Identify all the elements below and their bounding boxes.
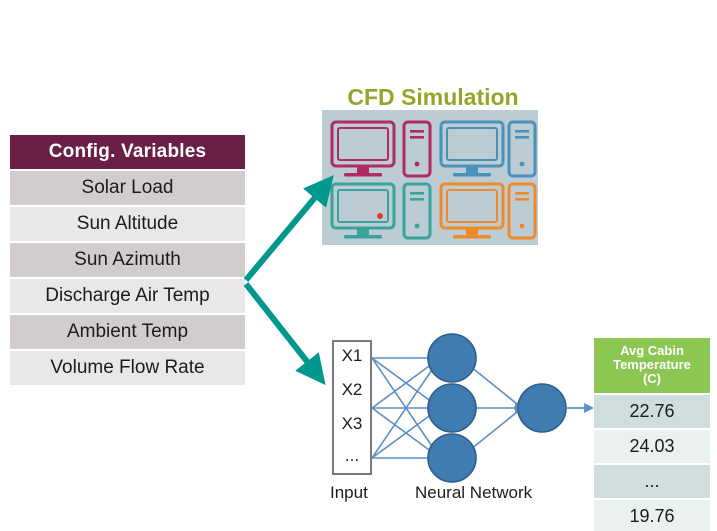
computer-tower-icon xyxy=(404,122,430,176)
input-variable: X3 xyxy=(332,414,372,434)
output-header-line: Temperature xyxy=(596,358,708,372)
computer-monitor-icon xyxy=(441,184,503,239)
config-table-header: Config. Variables xyxy=(10,135,245,169)
config-table-row: Ambient Temp xyxy=(10,313,245,349)
avg-cabin-temperature-table: Avg Cabin Temperature (C) 22.76 24.03 ..… xyxy=(594,338,710,531)
config-table-row: Solar Load xyxy=(10,169,245,205)
config-table-row: Sun Altitude xyxy=(10,205,245,241)
output-header-line: Avg Cabin xyxy=(596,344,708,358)
hidden-node xyxy=(428,384,476,432)
input-label: Input xyxy=(330,483,368,503)
output-table-row: 24.03 xyxy=(594,428,710,463)
computer-tower-icon xyxy=(404,184,430,238)
output-table-row: 22.76 xyxy=(594,393,710,428)
diagram-canvas: Config. Variables Solar Load Sun Altitud… xyxy=(0,0,717,531)
input-variable: X2 xyxy=(332,380,372,400)
output-table-row: ... xyxy=(594,463,710,498)
output-table-row: 19.76 xyxy=(594,498,710,531)
config-variables-table: Config. Variables Solar Load Sun Altitud… xyxy=(10,135,245,385)
output-node xyxy=(518,384,566,432)
input-variable: X1 xyxy=(332,346,372,366)
arrow-to-cfd xyxy=(246,182,328,280)
cfd-simulation-title: CFD Simulation xyxy=(333,84,533,111)
config-table-row: Volume Flow Rate xyxy=(10,349,245,385)
output-header-line: (C) xyxy=(596,372,708,386)
output-table-header: Avg Cabin Temperature (C) xyxy=(594,338,710,393)
neural-network-label: Neural Network xyxy=(415,483,532,503)
computer-tower-icon xyxy=(509,184,535,238)
hidden-node xyxy=(428,334,476,382)
computer-tower-icon xyxy=(509,122,535,176)
input-variable-ellipsis: ... xyxy=(332,446,372,466)
computer-monitor-icon xyxy=(441,122,503,177)
hidden-node xyxy=(428,434,476,482)
config-table-row: Discharge Air Temp xyxy=(10,277,245,313)
config-table-row: Sun Azimuth xyxy=(10,241,245,277)
